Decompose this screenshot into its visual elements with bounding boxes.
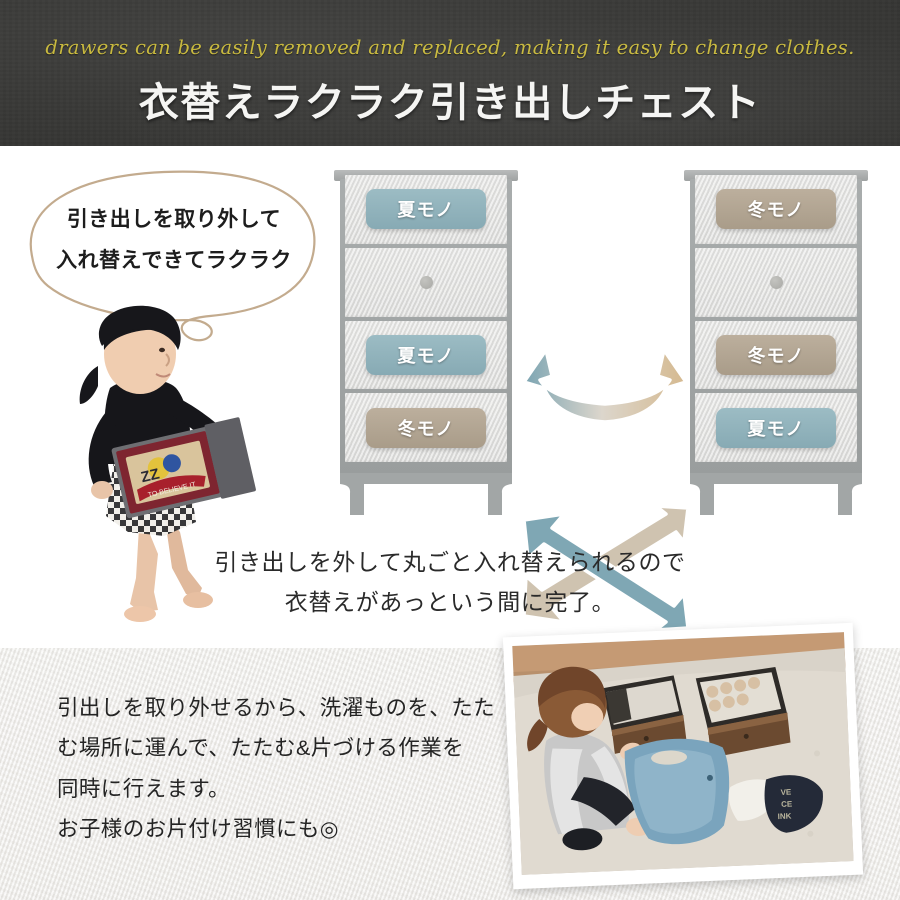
svg-text:INK: INK [777, 812, 791, 822]
left-drawer-1[interactable]: 夏モノ [345, 175, 507, 244]
woman-folding-laundry-photo: VE CE INK [512, 632, 853, 875]
right-dresser: 冬モノ 冬モノ 夏モノ [690, 170, 862, 520]
bottom-line-4: お子様のお片付け習慣にも◎ [57, 809, 497, 849]
bottom-line-1: 引出しを取り外せるから、洗濯ものを、たた [57, 688, 497, 728]
speech-bubble-line-1: 引き出しを取り外して [14, 200, 334, 241]
left-dresser-legs [338, 473, 514, 517]
left-drawer-4-label: 冬モノ [366, 408, 486, 448]
right-dresser-drawers: 冬モノ 冬モノ 夏モノ [695, 175, 857, 462]
left-dresser: 夏モノ 夏モノ 冬モノ [340, 170, 512, 520]
right-drawer-1[interactable]: 冬モノ [695, 175, 857, 244]
left-drawer-3[interactable]: 夏モノ [345, 321, 507, 390]
caption-line-2: 衣替えがあっという間に完了。 [0, 582, 900, 622]
bottom-description: 引出しを取り外せるから、洗濯ものを、たた む場所に運んで、たたむ&片づける作業を… [57, 688, 497, 850]
bottom-line-3: 同時に行えます。 [57, 769, 497, 809]
left-drawer-1-label: 夏モノ [366, 189, 486, 229]
right-drawer-4-label: 夏モノ [716, 408, 836, 448]
middle-caption: 引き出しを外して丸ごと入れ替えられるので 衣替えがあっという間に完了。 [0, 542, 900, 623]
caption-line-1: 引き出しを外して丸ごと入れ替えられるので [0, 542, 900, 582]
right-dresser-legs [688, 473, 864, 517]
bottom-section: 引出しを取り外せるから、洗濯ものを、たた む場所に運んで、たたむ&片づける作業を… [0, 648, 900, 900]
left-dresser-drawers: 夏モノ 夏モノ 冬モノ [345, 175, 507, 462]
speech-bubble-line-2: 入れ替えできてラクラク [14, 241, 334, 282]
left-drawer-3-label: 夏モノ [366, 335, 486, 375]
header-cursive-subtitle: drawers can be easily removed and replac… [0, 36, 900, 59]
curved-swap-arrow [518, 338, 692, 450]
drawer-knob-icon [420, 276, 433, 289]
left-drawer-2[interactable] [345, 248, 507, 317]
drawer-knob-icon [770, 276, 783, 289]
right-drawer-4[interactable]: 夏モノ [695, 393, 857, 462]
middle-section: 引き出しを取り外して 入れ替えできてラクラク [0, 146, 900, 648]
advertisement-page: drawers can be easily removed and replac… [0, 0, 900, 900]
bottom-line-2: む場所に運んで、たたむ&片づける作業を [57, 728, 497, 768]
right-drawer-2[interactable] [695, 248, 857, 317]
right-drawer-1-label: 冬モノ [716, 189, 836, 229]
right-drawer-3[interactable]: 冬モノ [695, 321, 857, 390]
right-drawer-3-label: 冬モノ [716, 335, 836, 375]
speech-bubble-text: 引き出しを取り外して 入れ替えできてラクラク [14, 200, 334, 282]
left-drawer-4[interactable]: 冬モノ [345, 393, 507, 462]
page-title: 衣替えラクラク引き出しチェスト [0, 70, 900, 128]
svg-text:CE: CE [781, 799, 793, 808]
header-banner: drawers can be easily removed and replac… [0, 0, 900, 146]
photo-frame: VE CE INK [503, 623, 863, 889]
svg-text:VE: VE [780, 787, 792, 796]
